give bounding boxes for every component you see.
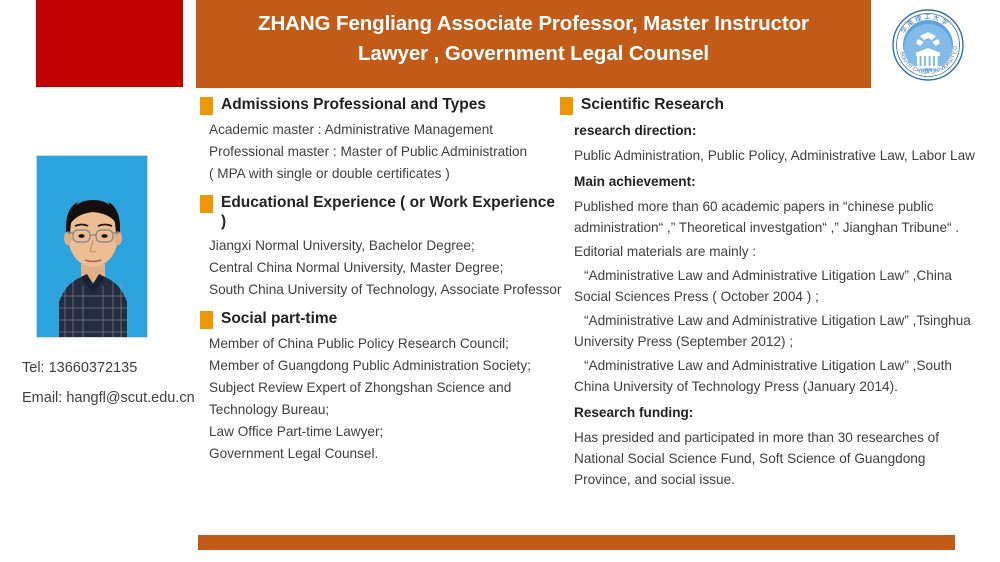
section-header: Educational Experience ( or Work Experie…	[200, 194, 555, 231]
paragraph: “Administrative Law and Administrative L…	[574, 355, 980, 397]
list-item: ( MPA with single or double certificates…	[209, 163, 555, 185]
subheading: research direction:	[574, 120, 980, 142]
square-marker-icon	[560, 97, 573, 115]
bottom-accent-bar	[198, 535, 955, 550]
list-item: Member of China Public Policy Research C…	[209, 333, 555, 355]
spacer	[200, 185, 555, 194]
contact-phone: Tel: 13660372135	[22, 360, 137, 376]
paragraph: Editorial materials are mainly :	[574, 241, 980, 262]
square-marker-icon	[200, 311, 213, 329]
section-title: Scientific Research	[581, 96, 724, 115]
paragraph: “Administrative Law and Administrative L…	[574, 265, 980, 307]
right-column: Scientific Research research direction: …	[560, 96, 980, 490]
section-admissions: Admissions Professional and Types Academ…	[200, 96, 555, 185]
list-item: Technology Bureau;	[209, 399, 555, 421]
spacer	[200, 301, 555, 310]
svg-text:1934: 1934	[924, 68, 932, 72]
title-line-1: ZHANG Fengliang Associate Professor, Mas…	[196, 9, 871, 39]
section-title: Social part-time	[221, 310, 337, 329]
page-title: ZHANG Fengliang Associate Professor, Mas…	[196, 9, 871, 68]
section-social-part-time: Social part-time Member of China Public …	[200, 310, 555, 465]
contact-email: Email: hangfl@scut.edu.cn	[22, 390, 195, 406]
left-column: Admissions Professional and Types Academ…	[200, 96, 555, 465]
paragraph: Has presided and participated in more th…	[574, 427, 980, 490]
subheading: Main achievement:	[574, 171, 980, 193]
square-marker-icon	[200, 97, 213, 115]
list-item: Subject Review Expert of Zhongshan Scien…	[209, 377, 555, 399]
section-header: Scientific Research	[560, 96, 980, 115]
list-item: Professional master : Master of Public A…	[209, 141, 555, 163]
list-item: Government Legal Counsel.	[209, 443, 555, 465]
section-header: Admissions Professional and Types	[200, 96, 555, 115]
avatar	[36, 155, 148, 338]
list-item: Central China Normal University, Master …	[209, 257, 555, 279]
header-banner: ZHANG Fengliang Associate Professor, Mas…	[196, 0, 871, 88]
list-item: Jiangxi Normal University, Bachelor Degr…	[209, 235, 555, 257]
paragraph: Public Administration, Public Policy, Ad…	[574, 145, 980, 166]
list-item: Law Office Part-time Lawyer;	[209, 421, 555, 443]
section-header: Social part-time	[200, 310, 555, 329]
square-marker-icon	[200, 195, 213, 213]
paragraph: “Administrative Law and Administrative L…	[574, 310, 980, 352]
section-education: Educational Experience ( or Work Experie…	[200, 194, 555, 301]
university-logo-icon: SOUTH CHINA UNIVERSITY OF TECHNOLOGY 华南理…	[882, 8, 974, 82]
red-accent-block	[36, 0, 183, 87]
list-item: Academic master : Administrative Managem…	[209, 119, 555, 141]
section-title: Educational Experience ( or Work Experie…	[221, 194, 555, 231]
paragraph: Published more than 60 academic papers i…	[574, 196, 980, 238]
title-line-2: Lawyer , Government Legal Counsel	[196, 39, 871, 69]
list-item: Member of Guangdong Public Administratio…	[209, 355, 555, 377]
subheading: Research funding:	[574, 402, 980, 424]
section-title: Admissions Professional and Types	[221, 96, 486, 115]
list-item: South China University of Technology, As…	[209, 279, 555, 301]
